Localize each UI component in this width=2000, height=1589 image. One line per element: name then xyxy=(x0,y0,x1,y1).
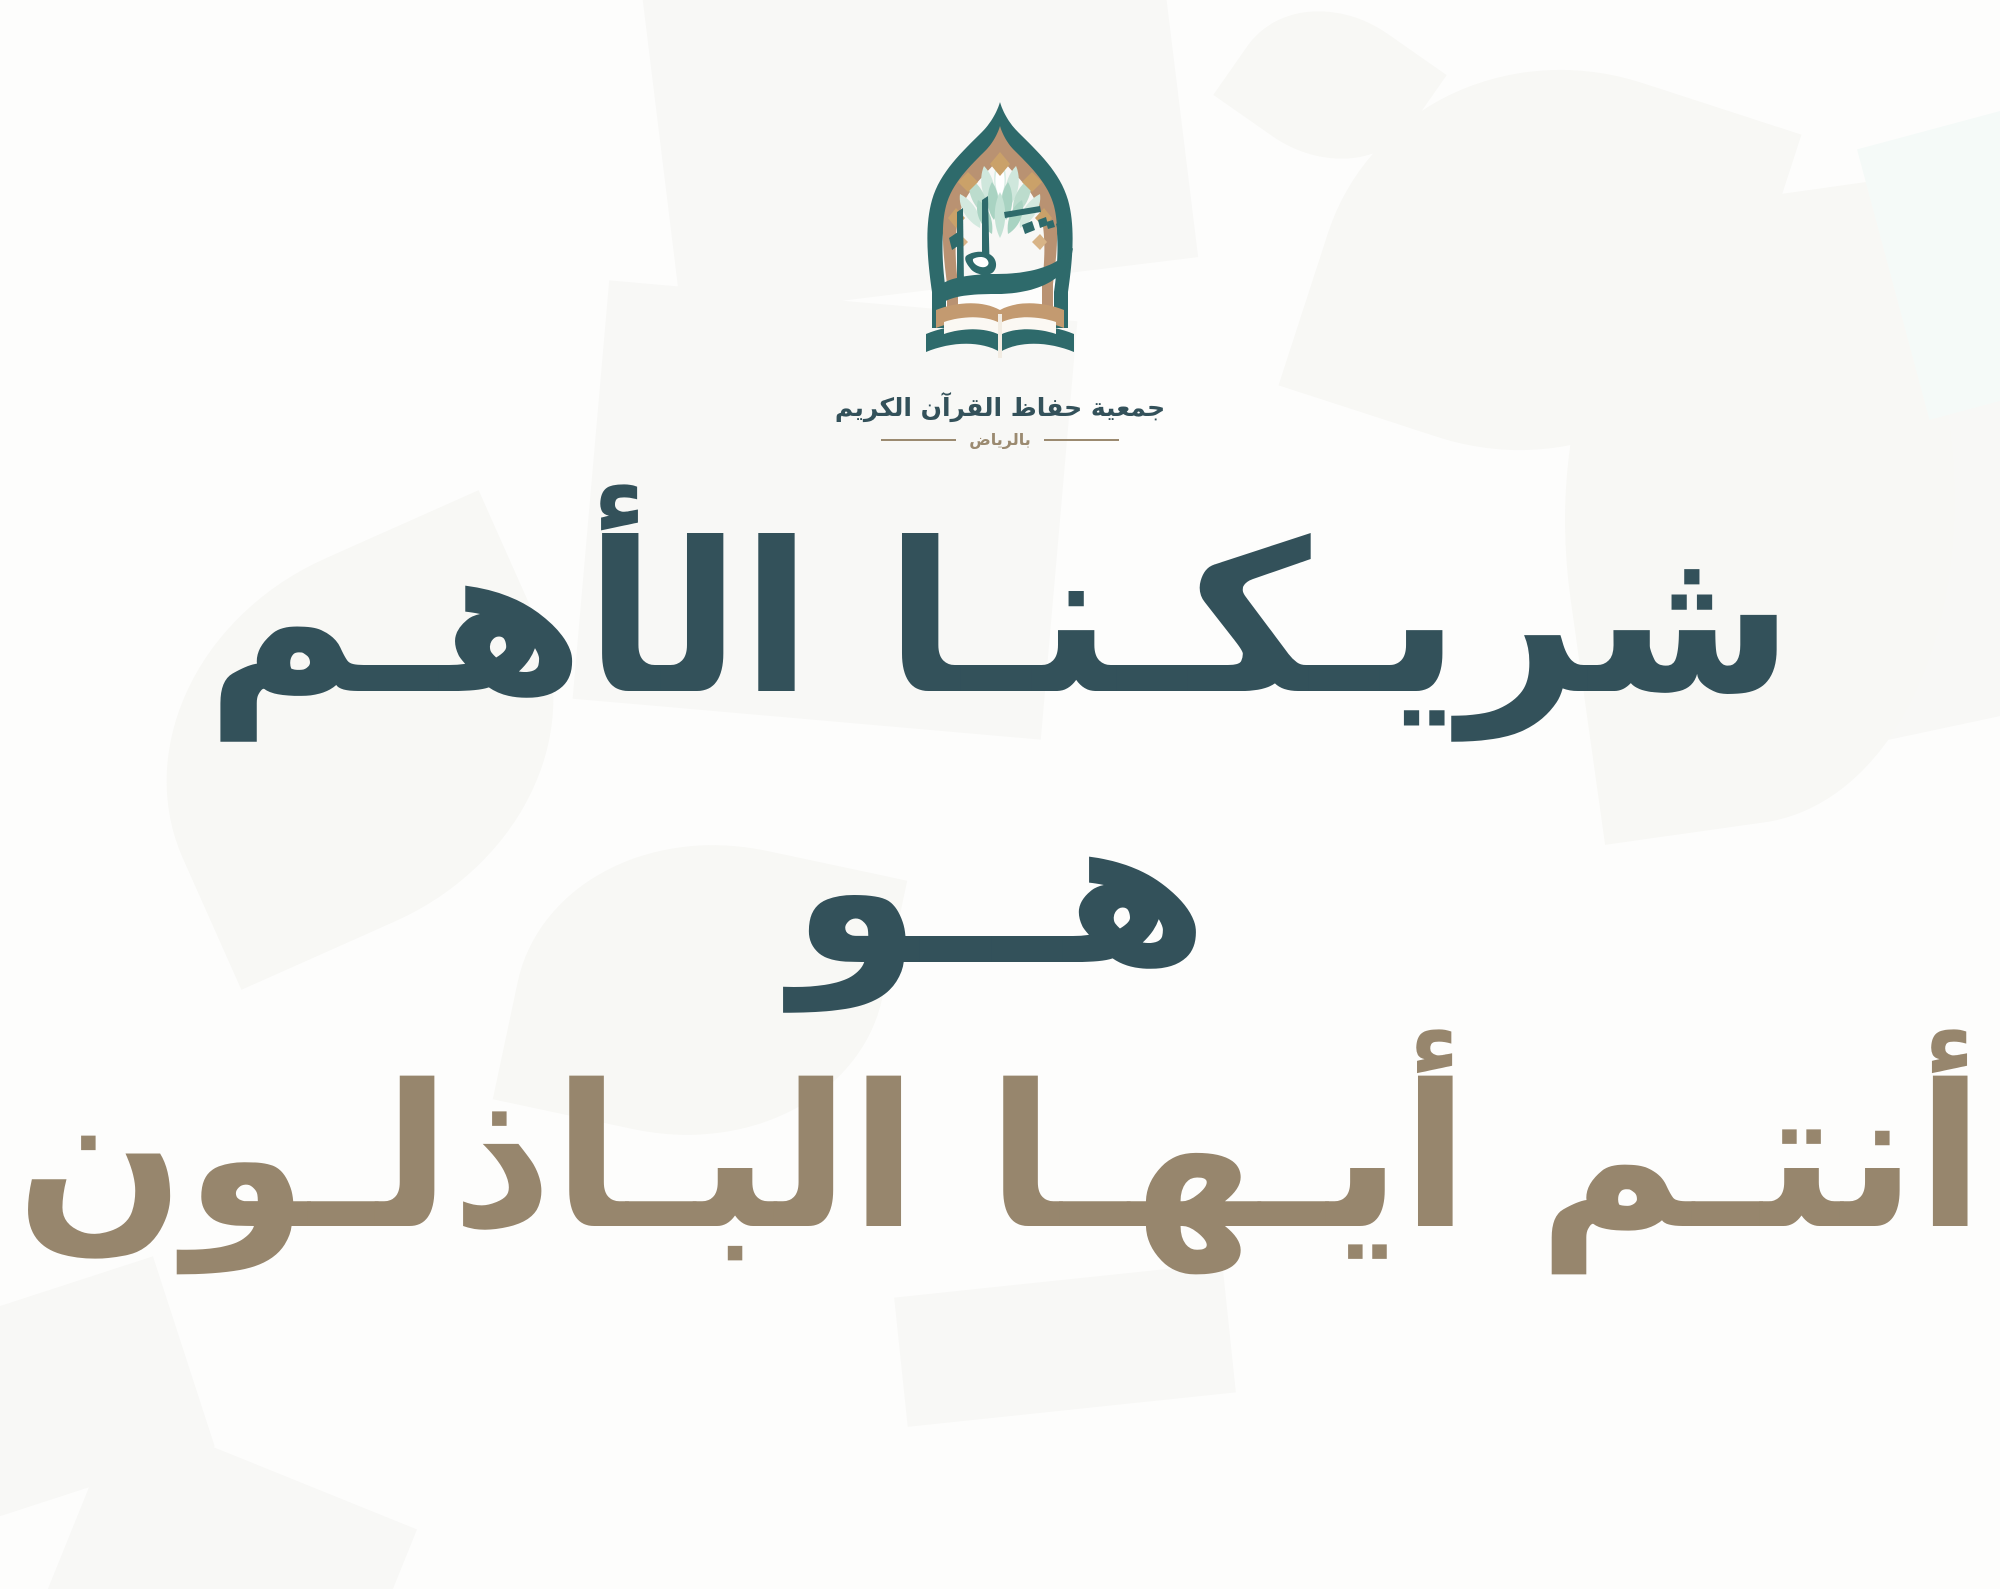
book-spine xyxy=(998,314,1002,358)
logo-city-row: بالرياض xyxy=(881,430,1119,449)
headline-line-1: شريـكـنـا الأهـم xyxy=(0,470,2000,772)
poster-canvas: جمعية حفاظ القرآن الكريم بالرياض شريـكـن… xyxy=(0,0,2000,1589)
headline-line-2: هــو xyxy=(0,744,2000,1039)
headline-block: شريـكـنـا الأهـم هــو أنتـم أيـهـا البـا… xyxy=(0,470,2000,1298)
bg-shape-5 xyxy=(23,1410,417,1589)
logo-wordmark: جمعية حفاظ القرآن الكريم بالرياض xyxy=(835,392,1165,449)
logo-rule-left xyxy=(881,439,956,441)
logo: جمعية حفاظ القرآن الكريم بالرياض xyxy=(0,96,2000,449)
hoffaz-mosque-arch-book-logo-icon xyxy=(900,96,1100,388)
logo-city-name: بالرياض xyxy=(969,430,1031,449)
logo-org-name: جمعية حفاظ القرآن الكريم xyxy=(835,392,1165,423)
headline-line-3: أنتـم أيـهـا البـاذلـون xyxy=(0,1017,2000,1298)
logo-rule-right xyxy=(1044,439,1119,441)
open-book-icon xyxy=(926,303,1074,358)
